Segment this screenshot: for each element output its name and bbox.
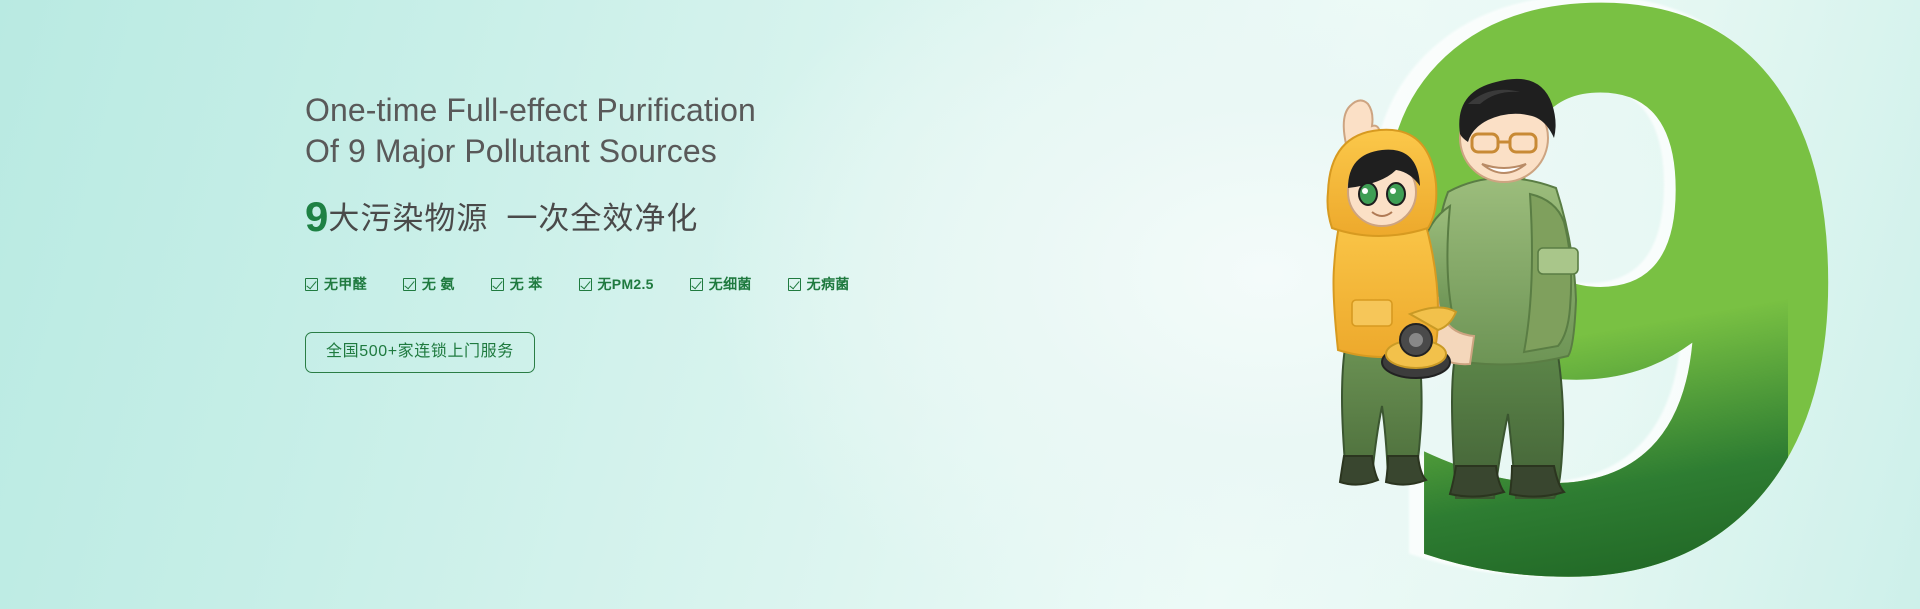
feature-label: 无 苯 (510, 274, 543, 294)
feature-label: 无病菌 (807, 274, 850, 294)
feature-list: 无甲醛 无 氨 无 苯 无PM2.5 无细菌 无病菌 (305, 274, 945, 294)
feature-item: 无 苯 (491, 274, 543, 294)
subheadline-number: 9 (305, 193, 328, 240)
subheadline-part-1: 大污染物源 (328, 201, 488, 236)
technician-figure (1420, 79, 1578, 498)
feature-label: 无细菌 (709, 274, 752, 294)
feature-label: 无PM2.5 (598, 274, 654, 294)
nationwide-service-button[interactable]: 全国500+家连锁上门服务 (305, 332, 535, 373)
subheadline-part-2: 一次全效净化 (506, 201, 698, 236)
check-box-icon (690, 278, 703, 291)
check-box-icon (491, 278, 504, 291)
copy-block: One-time Full-effect Purification Of 9 M… (305, 90, 945, 373)
child-figure (1328, 100, 1439, 484)
check-box-icon (305, 278, 318, 291)
character-illustration (1200, 0, 1920, 609)
headline-line-2: Of 9 Major Pollutant Sources (305, 131, 945, 172)
artwork-region: 9 9 9 (1200, 0, 1920, 609)
check-box-icon (579, 278, 592, 291)
promo-banner: 9 9 9 (0, 0, 1920, 609)
page-title: One-time Full-effect Purification Of 9 M… (305, 90, 945, 172)
subheadline: 9大污染物源一次全效净化 (305, 194, 945, 242)
feature-item: 无病菌 (788, 274, 850, 294)
feature-item: 无PM2.5 (579, 274, 654, 294)
headline-line-1: One-time Full-effect Purification (305, 92, 756, 128)
feature-item: 无甲醛 (305, 274, 367, 294)
technician-and-child-illustration (1290, 42, 1710, 502)
check-box-icon (403, 278, 416, 291)
check-box-icon (788, 278, 801, 291)
feature-item: 无细菌 (690, 274, 752, 294)
feature-label: 无甲醛 (324, 274, 367, 294)
feature-item: 无 氨 (403, 274, 455, 294)
feature-label: 无 氨 (422, 274, 455, 294)
